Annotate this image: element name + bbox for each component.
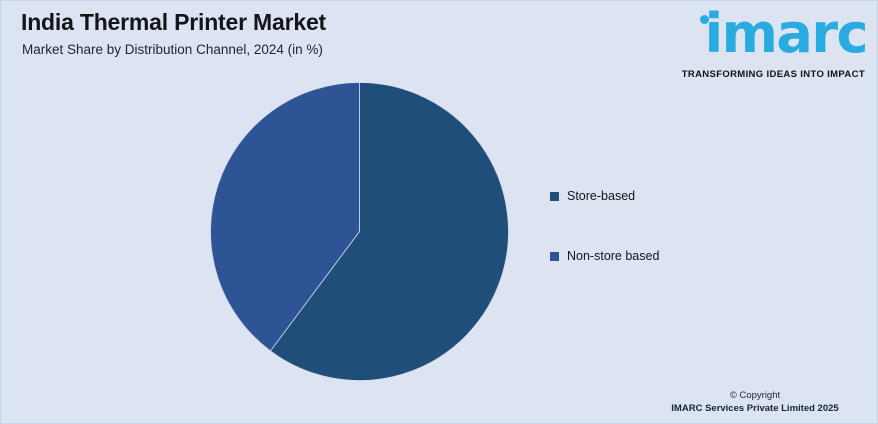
- chart-legend: Store-based Non-store based: [550, 187, 659, 307]
- legend-swatch-icon: [550, 252, 559, 261]
- chart-canvas: India Thermal Printer Market Market Shar…: [0, 0, 878, 424]
- pie-chart: [210, 82, 509, 381]
- copyright-line: © Copyright: [645, 389, 865, 402]
- logo-dot-icon: [700, 15, 709, 24]
- pie-chart-svg: [210, 82, 509, 381]
- logo-wordmark: imarc: [705, 7, 867, 61]
- chart-subtitle: Market Share by Distribution Channel, 20…: [22, 42, 323, 57]
- pie-slice-group: [211, 83, 509, 381]
- page-title: India Thermal Printer Market: [21, 9, 326, 36]
- imarc-logo: imarc TRANSFORMING IDEAS INTO IMPACT: [683, 7, 869, 79]
- company-line: IMARC Services Private Limited 2025: [645, 402, 865, 415]
- legend-swatch-icon: [550, 192, 559, 201]
- legend-item-non-store-based[interactable]: Non-store based: [550, 247, 659, 265]
- legend-item-store-based[interactable]: Store-based: [550, 187, 659, 205]
- footer-copyright: © Copyright IMARC Services Private Limit…: [645, 389, 865, 415]
- legend-item-label: Non-store based: [567, 249, 659, 263]
- legend-item-label: Store-based: [567, 189, 635, 203]
- logo-tagline: TRANSFORMING IDEAS INTO IMPACT: [682, 69, 865, 80]
